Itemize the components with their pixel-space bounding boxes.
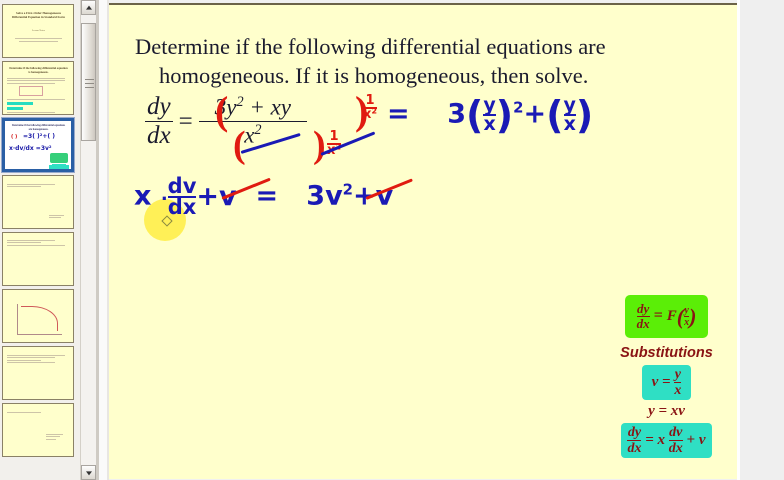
thumbnail-4-bottom bbox=[49, 213, 65, 220]
sub3-num2: dv bbox=[669, 425, 683, 440]
slide-thumbnail-5[interactable] bbox=[2, 232, 74, 286]
rhs-plus: + bbox=[524, 99, 547, 130]
recip-1-bottom: 1 bbox=[327, 131, 341, 143]
rhs-paren-right-1: ) bbox=[496, 100, 513, 130]
sub1-den: x bbox=[674, 382, 681, 398]
fraction-numerator: 3y2 + xy bbox=[199, 94, 307, 121]
prompt-line-2: homogeneous. If it is homogeneous, then … bbox=[135, 61, 715, 90]
equals-sign-1: = bbox=[177, 108, 195, 136]
rhs-frac1-den: x bbox=[483, 114, 495, 133]
eq2-dv: dv bbox=[168, 177, 197, 196]
formula-top-F: F bbox=[667, 308, 677, 324]
rhs-frac1-num: y bbox=[483, 97, 495, 114]
sub3-plus: + bbox=[687, 432, 696, 448]
thumbnail-2-body bbox=[7, 76, 69, 85]
slide-thumbnail-4[interactable] bbox=[2, 175, 74, 229]
equation-row-1-rhs: = 3(yx)2+(yx) bbox=[387, 97, 593, 133]
substitution-1-highlight: v = y x bbox=[642, 365, 692, 400]
thumbnail-3-cyan-box-2 bbox=[49, 165, 69, 171]
slide-thumbnail-3[interactable]: Determine if the following differential … bbox=[2, 118, 74, 172]
slide-thumbnail-panel[interactable]: Solve a First-Order Homogeneous Differen… bbox=[0, 0, 80, 480]
numerator-tail: + xy bbox=[249, 95, 291, 120]
powerpoint-slide-view: Solve a First-Order Homogeneous Differen… bbox=[0, 0, 784, 480]
recip-1-top: 1 bbox=[363, 95, 377, 107]
rhs-paren-left-2: ( bbox=[546, 100, 563, 130]
scroll-up-arrow-icon[interactable] bbox=[81, 0, 96, 15]
sub3-equals: = bbox=[645, 432, 654, 448]
panel-divider-2 bbox=[99, 0, 107, 480]
numerator-exponent: 2 bbox=[236, 94, 243, 110]
dy-numerator: dy bbox=[145, 93, 173, 121]
rhs-coefficient: 3 bbox=[447, 99, 466, 130]
substitutions-label: Substitutions bbox=[604, 345, 729, 361]
rhs-frac2-den: x bbox=[564, 114, 576, 133]
thumbnail-3-ink-blue-1: =3( )²+( ) bbox=[23, 133, 55, 140]
formula-top-paren-left: ( bbox=[677, 309, 684, 325]
thumbnail-3-title: Determine if the following differential … bbox=[11, 124, 66, 133]
sub1-v: v bbox=[652, 374, 659, 390]
formula-top-paren-right: ) bbox=[689, 309, 696, 325]
rhs-paren-right-2: ) bbox=[576, 100, 593, 130]
sub3-x: x bbox=[658, 432, 666, 448]
sub1-num: y bbox=[674, 367, 681, 382]
equation-row-1: dy dx = 3y2 + xy x2 ( ) bbox=[145, 93, 307, 163]
eq2-rhs-exponent: 2 bbox=[343, 181, 353, 199]
substitution-3-row: dy dx = x dv dx + v bbox=[604, 423, 729, 458]
thumbnail-8-body bbox=[7, 410, 69, 414]
slide-thumbnail-7[interactable] bbox=[2, 346, 74, 400]
sub3-fraction-2: dv dx bbox=[669, 425, 683, 456]
formula-top-fraction: dy dx bbox=[637, 302, 650, 331]
thumbnail-2-body2 bbox=[7, 97, 69, 115]
dy-dx-fraction: dy dx bbox=[145, 93, 173, 150]
reciprocal-denominator-factor: 1 x² bbox=[327, 131, 341, 157]
thumbnail-7-body bbox=[7, 353, 69, 365]
substitution-2: y = xv bbox=[648, 403, 685, 419]
thumbnail-2-formula-box bbox=[19, 86, 43, 96]
scrollbar-track[interactable] bbox=[81, 15, 96, 465]
denominator-x: x bbox=[244, 123, 254, 148]
slide-thumbnail-2[interactable]: Determine if the following differential … bbox=[2, 61, 74, 115]
recip-x2-top: x² bbox=[363, 107, 377, 121]
reciprocal-numerator-factor: 1 x² bbox=[363, 95, 377, 121]
formula-top-row: dy dx = F(yx) bbox=[604, 295, 729, 338]
scroll-down-arrow-icon[interactable] bbox=[81, 465, 96, 480]
rhs-equals: = bbox=[387, 99, 410, 130]
prompt-line-1: Determine if the following differential … bbox=[135, 34, 606, 59]
main-fraction: 3y2 + xy x2 bbox=[199, 94, 307, 148]
equation-row-2: x ·dvdx+v = 3v2+v bbox=[134, 177, 393, 217]
slide-thumbnail-1[interactable]: Solve a First-Order Homogeneous Differen… bbox=[2, 4, 74, 58]
formula-top-num: dy bbox=[637, 302, 650, 316]
eq2-dx: dx bbox=[168, 196, 197, 217]
sub3-v: v bbox=[699, 432, 706, 448]
formula-top-equals: = bbox=[654, 307, 663, 324]
red-paren-den-right: ) bbox=[313, 123, 326, 167]
slide-thumbnail-8[interactable] bbox=[2, 403, 74, 457]
thumbnail-1-lines bbox=[13, 38, 64, 44]
thumbnail-3-green-box-1 bbox=[50, 153, 68, 163]
rhs-fraction-2: yx bbox=[564, 97, 576, 133]
eq2-x: x bbox=[134, 181, 151, 212]
numerator-3y: 3y bbox=[215, 95, 237, 120]
sub1-fraction: y x bbox=[674, 367, 681, 398]
formula-top: dy dx = F(yx) bbox=[637, 307, 697, 324]
substitution-2-row: y = xv bbox=[604, 402, 729, 420]
eq2-rhs-coef: 3v bbox=[306, 181, 342, 212]
dx-denominator: dx bbox=[145, 121, 173, 150]
slide-canvas[interactable]: Determine if the following differential … bbox=[109, 3, 737, 479]
substitution-1-row: v = y x bbox=[604, 365, 729, 400]
thumbnail-8-bottom bbox=[46, 432, 64, 441]
eq2-dv-dx-fraction: dvdx bbox=[168, 177, 197, 217]
sub3-fraction-1: dy dx bbox=[627, 425, 641, 456]
formula-top-den: dx bbox=[637, 316, 650, 331]
slide-prompt-text: Determine if the following differential … bbox=[135, 32, 715, 90]
sub3-den1: dx bbox=[627, 440, 641, 456]
thumbnail-2-title: Determine if the following differential … bbox=[9, 66, 68, 75]
thumbnail-panel-scrollbar[interactable] bbox=[80, 0, 97, 480]
sub3-num1: dy bbox=[627, 425, 641, 440]
sub1-equals: = bbox=[662, 374, 671, 390]
rhs-frac2-num: y bbox=[564, 97, 576, 114]
thumbnail-1-title: Solve a First-Order Homogeneous Differen… bbox=[9, 11, 68, 20]
substitution-3: dy dx = x dv dx + v bbox=[627, 432, 705, 448]
rhs-fraction-1: yx bbox=[483, 97, 495, 133]
sub3-den2: dx bbox=[669, 440, 683, 456]
thumbnail-3-ink-blue-2: x·dv/dx =3v² bbox=[9, 145, 52, 152]
thumbnail-3-ink-red: ( ) bbox=[11, 134, 17, 140]
thumbnail-5-body bbox=[7, 238, 69, 247]
thumbnail-1-subtitle: Lesson Notes bbox=[11, 29, 66, 32]
rhs-exponent: 2 bbox=[513, 99, 523, 117]
substitutions-reference-card: dy dx = F(yx) Substitutions v = y bbox=[604, 295, 729, 458]
eq2-dot: · bbox=[161, 189, 168, 210]
right-gutter-panel bbox=[740, 0, 784, 480]
scrollbar-thumb[interactable] bbox=[81, 23, 96, 141]
thumbnail-4-body bbox=[7, 182, 69, 189]
substitution-1: v = y x bbox=[652, 374, 682, 390]
rhs-paren-left-1: ( bbox=[466, 100, 483, 130]
slide-thumbnail-6[interactable] bbox=[2, 289, 74, 343]
substitution-3-highlight: dy dx = x dv dx + v bbox=[621, 423, 711, 458]
denominator-exponent: 2 bbox=[254, 122, 261, 138]
formula-top-highlight: dy dx = F(yx) bbox=[625, 295, 709, 338]
thumbnail-6-graph bbox=[17, 304, 62, 335]
